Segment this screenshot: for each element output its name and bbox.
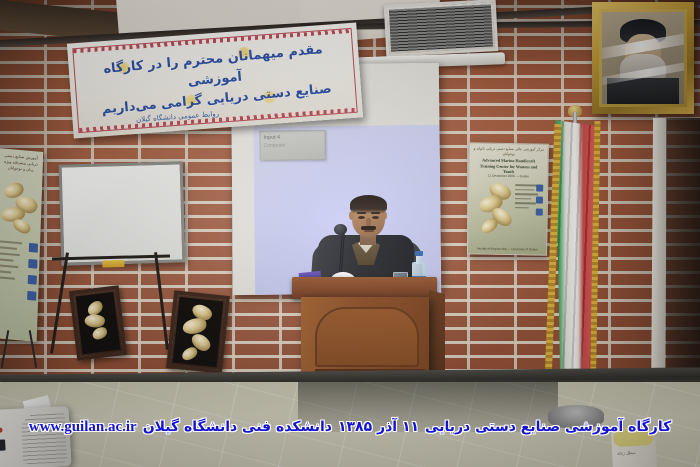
- podium-top: [292, 277, 437, 299]
- whiteboard: [59, 161, 186, 265]
- bin-label: سطل زباله: [617, 450, 636, 456]
- shell-motif: [11, 216, 33, 237]
- poster-sponsor-logos: [536, 184, 544, 220]
- vent-louvers: [389, 4, 493, 51]
- floor-shadow: [298, 382, 558, 432]
- speaker-nose: [366, 218, 371, 226]
- photograph: Input 4 Computer مقدم میهمانان محترم را …: [0, 0, 700, 467]
- waste-bin: سطل زباله: [611, 429, 657, 467]
- shell-motif: [91, 326, 109, 341]
- artwork-canvas: [76, 292, 121, 354]
- poster-footer: Faculty of Engineering — University of G…: [473, 246, 541, 251]
- framed-portrait: [592, 2, 694, 114]
- speaker-eye-left: [358, 216, 365, 219]
- rollup-poster-left: آموزش صنایع دستی دریایی پیشرفته ویژه زنا…: [0, 148, 43, 342]
- bottle-cap: [415, 251, 423, 256]
- speaker-eyebrow-left: [357, 212, 366, 214]
- power-led-icon: [0, 428, 3, 433]
- podium-arched-panel: [315, 307, 419, 367]
- poster-title-fa: مرکز آموزشی عالی صنایع دستی دریایی بانوا…: [473, 146, 545, 157]
- rollup-poster-sponsor-logos: [27, 243, 38, 308]
- rollup-poster-title: آموزش صنایع دستی دریایی پیشرفته ویژه زنا…: [2, 152, 41, 173]
- rollup-poster-artwork: [0, 174, 40, 239]
- rollup-poster-stand: [0, 330, 48, 370]
- speaker-eyebrow-right: [371, 212, 380, 214]
- speaker-eye-right: [372, 216, 379, 219]
- crt-monitor: [0, 406, 72, 467]
- portrait-image: [602, 12, 684, 104]
- wall-poster-right: مرکز آموزشی عالی صنایع دستی دریایی بانوا…: [467, 142, 549, 255]
- poster-title-en: Advanced Marine Handicraft Training Cent…: [475, 157, 541, 175]
- air-vent-grille: [384, 0, 499, 57]
- framed-artwork-right: [166, 290, 230, 373]
- speaker-hair: [350, 195, 387, 214]
- shell-motif: [182, 317, 208, 335]
- microphone-head: [334, 224, 347, 235]
- whiteboard-glare: [62, 164, 183, 262]
- poster-date: 11 December 2006 — Guilan: [475, 173, 541, 178]
- speaker-mouth: [364, 230, 374, 232]
- bin-liner-bag: [613, 425, 654, 447]
- flag-stand-base: [548, 405, 604, 429]
- portrait-mat: [599, 9, 687, 107]
- monitor-vent: [21, 412, 68, 464]
- monitor-power-button[interactable]: [0, 439, 6, 450]
- framed-artwork-left: [69, 285, 127, 361]
- artwork-canvas: [173, 297, 224, 367]
